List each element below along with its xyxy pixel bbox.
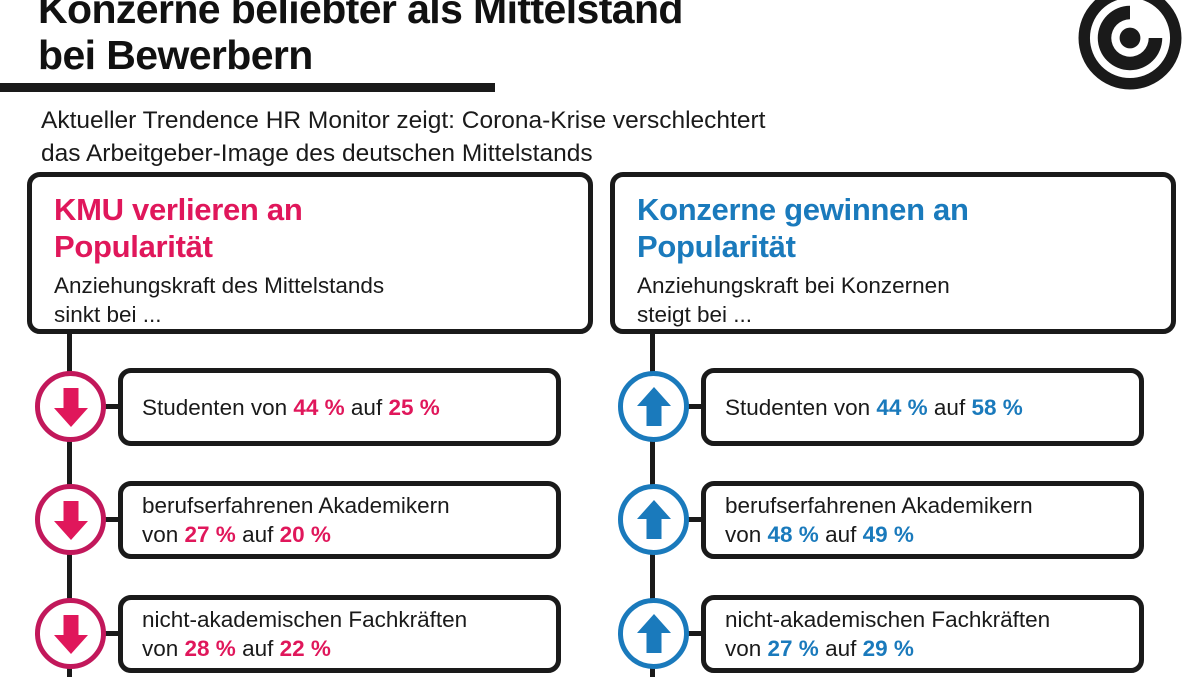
stat-bubble[interactable]: berufserfahrenen Akademikern von 48 % au… (701, 481, 1144, 559)
list-item[interactable]: Studenten von 44 % auf 58 % (606, 368, 1176, 446)
arrow-up-icon (618, 484, 689, 555)
column-konzerne: Konzerne gewinnen an Popularität Anziehu… (606, 172, 1176, 677)
card-header-konzerne-title: Konzerne gewinnen an Popularität (637, 191, 1151, 265)
stat-text: berufserfahrenen Akademikern von 27 % au… (142, 491, 450, 549)
arrow-down-icon (35, 484, 106, 555)
card-header-kmu-subtitle: Anziehungskraft des Mittelstands sinkt b… (54, 271, 568, 329)
stat-bubble[interactable]: Studenten von 44 % auf 58 % (701, 368, 1144, 446)
arrow-down-icon (35, 598, 106, 669)
column-kmu: KMU verlieren an Popularität Anziehungsk… (23, 172, 593, 677)
arrow-down-icon (35, 371, 106, 442)
stat-bubble[interactable]: nicht-akademischen Fachkräften von 28 % … (118, 595, 561, 673)
page-subtitle: Aktueller Trendence HR Monitor zeigt: Co… (41, 104, 1041, 170)
stat-bubble[interactable]: berufserfahrenen Akademikern von 27 % au… (118, 481, 561, 559)
stat-text: berufserfahrenen Akademikern von 48 % au… (725, 491, 1033, 549)
page-title: Konzerne beliebter als Mittelstand bei B… (38, 0, 1068, 78)
list-item[interactable]: nicht-akademischen Fachkräften von 28 % … (23, 595, 593, 673)
card-header-konzerne: Konzerne gewinnen an Popularität Anziehu… (610, 172, 1176, 334)
stat-text: nicht-akademischen Fachkräften von 28 % … (142, 605, 467, 663)
title-divider (0, 83, 495, 92)
arrow-up-icon (618, 598, 689, 669)
stat-text: nicht-akademischen Fachkräften von 27 % … (725, 605, 1050, 663)
stat-bubble[interactable]: Studenten von 44 % auf 25 % (118, 368, 561, 446)
list-item[interactable]: berufserfahrenen Akademikern von 27 % au… (23, 481, 593, 559)
list-item[interactable]: nicht-akademischen Fachkräften von 27 % … (606, 595, 1176, 673)
card-header-konzerne-subtitle: Anziehungskraft bei Konzernen steigt bei… (637, 271, 1151, 329)
stat-text: Studenten von 44 % auf 58 % (725, 393, 1023, 422)
card-header-kmu-title: KMU verlieren an Popularität (54, 191, 568, 265)
stat-bubble[interactable]: nicht-akademischen Fachkräften von 27 % … (701, 595, 1144, 673)
infographic-root: Konzerne beliebter als Mittelstand bei B… (0, 0, 1200, 677)
card-header-kmu: KMU verlieren an Popularität Anziehungsk… (27, 172, 593, 334)
trendence-spiral-logo (1078, 0, 1182, 90)
list-item[interactable]: Studenten von 44 % auf 25 % (23, 368, 593, 446)
arrow-up-icon (618, 371, 689, 442)
stat-text: Studenten von 44 % auf 25 % (142, 393, 440, 422)
list-item[interactable]: berufserfahrenen Akademikern von 48 % au… (606, 481, 1176, 559)
